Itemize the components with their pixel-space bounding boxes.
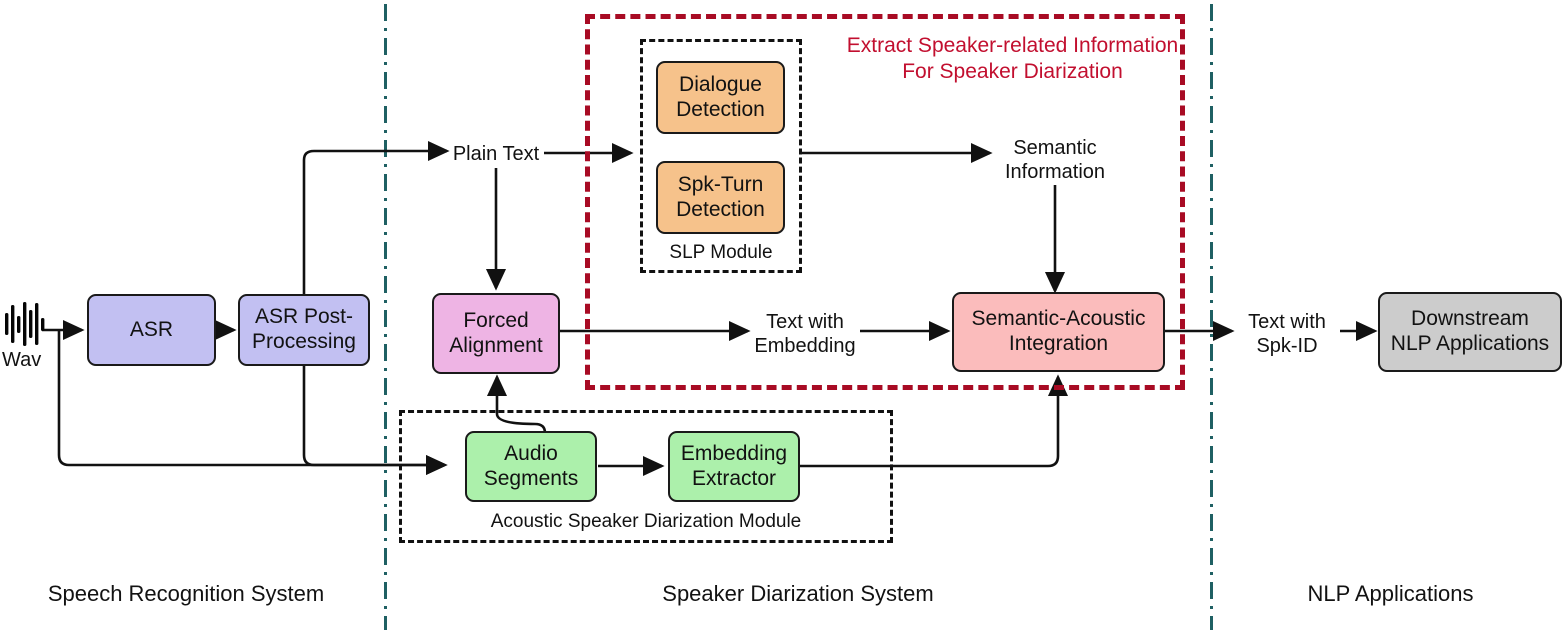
node-forced-alignment[interactable]: Forced Alignment — [432, 293, 560, 374]
speaker-related-extraction-caption: Extract Speaker-related Information For … — [840, 33, 1185, 84]
node-audio-segments[interactable]: Audio Segments — [465, 431, 597, 502]
wav-label: Wav — [2, 349, 41, 372]
edge-label-semantic-information: Semantic Information — [995, 136, 1115, 184]
acoustic-diarization-caption: Acoustic Speaker Diarization Module — [399, 511, 893, 533]
node-embedding-extractor[interactable]: Embedding Extractor — [668, 431, 800, 502]
section-label-speaker-diarization: Speaker Diarization System — [390, 581, 1206, 607]
edge-label-text-with-spkid: Text with Spk-ID — [1236, 310, 1338, 358]
node-downstream-nlp-applications[interactable]: Downstream NLP Applications — [1378, 292, 1562, 372]
waveform-icon — [4, 300, 46, 348]
node-asr[interactable]: ASR — [87, 294, 216, 366]
section-label-nlp-applications: NLP Applications — [1216, 581, 1565, 607]
slp-module-caption: SLP Module — [640, 242, 802, 264]
node-asr-post-processing[interactable]: ASR Post- Processing — [238, 294, 370, 366]
diagram-canvas: Wav Extract Speaker-related Information … — [0, 0, 1565, 634]
edge-asrpost-to-plaintext — [304, 151, 447, 300]
node-semantic-acoustic-integration[interactable]: Semantic-Acoustic Integration — [952, 292, 1165, 372]
edge-label-plain-text: Plain Text — [452, 142, 540, 166]
node-spk-turn-detection[interactable]: Spk-Turn Detection — [656, 161, 785, 234]
section-label-speech-recognition: Speech Recognition System — [0, 581, 372, 607]
node-dialogue-detection[interactable]: Dialogue Detection — [656, 61, 785, 134]
edge-label-text-with-embedding: Text with Embedding — [752, 310, 858, 358]
